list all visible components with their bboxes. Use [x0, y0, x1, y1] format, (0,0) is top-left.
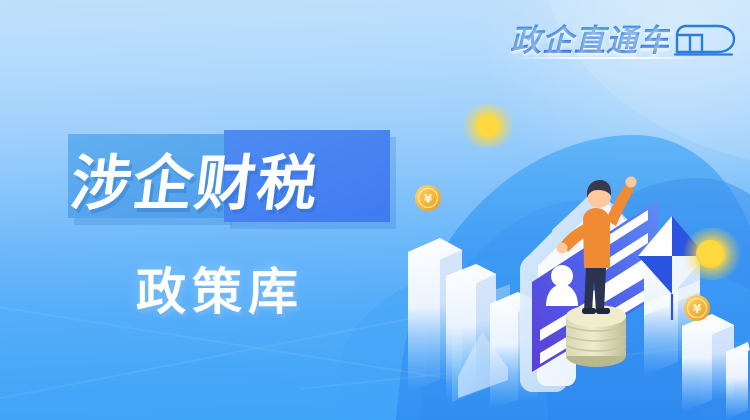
svg-text:¥: ¥ [693, 302, 702, 316]
coin-yen-left: ¥ [415, 185, 441, 211]
coin-yen-right-lower: ¥ [684, 295, 710, 321]
brand-logo-text: 政企直通车 [510, 23, 670, 58]
bullet-train-icon [674, 22, 736, 56]
page-title: 涉企财税 [67, 134, 398, 222]
brand-logo[interactable]: 政企直通车 [510, 22, 736, 56]
coin-stack [566, 305, 626, 367]
page-subtitle: 政策库 [136, 252, 304, 324]
brand-logo-underline [514, 57, 700, 59]
sun-glow-icon [460, 104, 516, 148]
isometric-policy-illustration: ¥ ¥ ¥ [400, 80, 750, 420]
promo-banner: 政企直通车 涉企财税 政策库 [0, 0, 750, 420]
svg-text:¥: ¥ [424, 192, 433, 206]
coin-glow-right [682, 228, 742, 280]
